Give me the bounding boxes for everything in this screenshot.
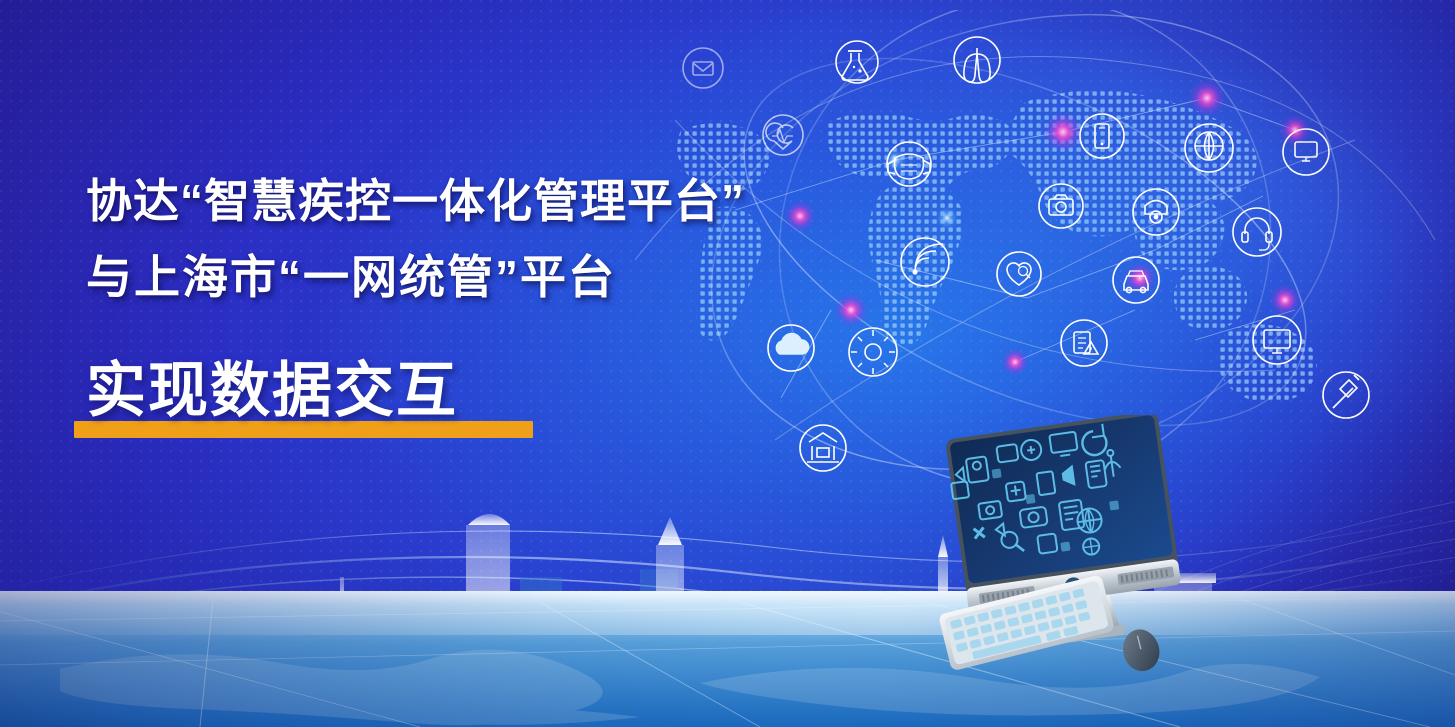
- gear-icon: [849, 328, 897, 376]
- lungs-icon: [954, 37, 1000, 83]
- cloud-icon: [768, 325, 814, 371]
- perspective-grid-floor: [0, 591, 1455, 727]
- headset-icon: [1233, 208, 1281, 256]
- subheadline-block: 实现数据交互: [74, 352, 544, 438]
- desktop-computer-illustration: [912, 415, 1232, 695]
- mail-icon: [683, 48, 723, 88]
- page-headline: 协达“智慧疾控一体化管理平台” 与上海市“一网统管”平台: [86, 163, 906, 315]
- headline-line-1: 协达“智慧疾控一体化管理平台”: [86, 163, 906, 239]
- document-alert-icon: [1061, 320, 1107, 366]
- syringe-icon: [1323, 372, 1369, 418]
- heartbeat-icon: [763, 115, 803, 155]
- heart-search-icon: [997, 252, 1041, 296]
- subheadline-text: 实现数据交互: [86, 352, 458, 430]
- banner-root: 协达“智慧疾控一体化管理平台” 与上海市“一网统管”平台 实现数据交互: [0, 0, 1455, 727]
- headline-line-2: 与上海市“一网统管”平台: [86, 239, 906, 315]
